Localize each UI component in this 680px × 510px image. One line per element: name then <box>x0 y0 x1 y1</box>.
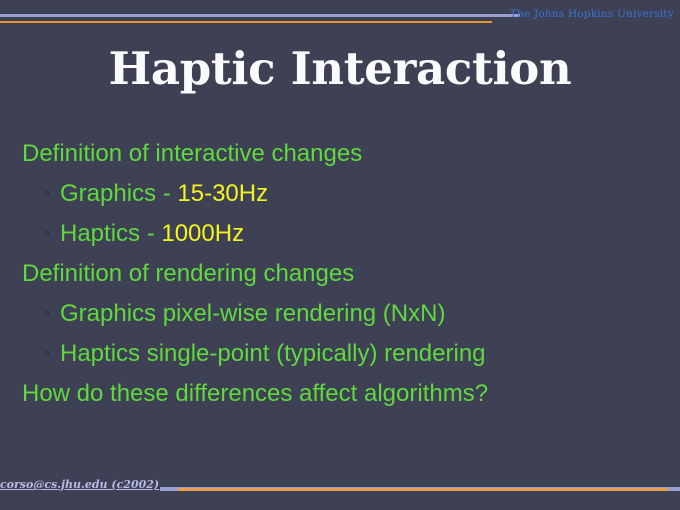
footer-rule-orange <box>178 488 668 491</box>
bullet-highlight: 15-30Hz <box>177 180 268 207</box>
header-rule-orange <box>0 21 492 23</box>
bullet-item-level1: Definition of interactive changes <box>22 134 662 174</box>
hollow-circle-bullet-icon <box>44 231 49 236</box>
bullet-text: Haptics single-point (typically) renderi… <box>60 340 486 367</box>
university-label: The Johns Hopkins University <box>510 8 674 20</box>
bullet-item-level2: Graphics - 15-30Hz <box>22 174 662 214</box>
bullet-text: How do these differences affect algorith… <box>22 380 488 407</box>
hollow-circle-bullet-icon <box>44 311 49 316</box>
hollow-circle-bullet-icon <box>44 191 49 196</box>
presentation-slide: The Johns Hopkins University Haptic Inte… <box>0 0 680 510</box>
bullet-list: Definition of interactive changes Graphi… <box>22 134 662 414</box>
bullet-item-level1: Definition of rendering changes <box>22 254 662 294</box>
footer-email-link[interactable]: jcorso@cs.jhu.edu (c2002) <box>0 478 159 491</box>
hollow-circle-bullet-icon <box>44 351 49 356</box>
bullet-item-level2: Haptics - 1000Hz <box>22 214 662 254</box>
header-rule-lavender <box>0 14 520 17</box>
bullet-text: Graphics - <box>60 180 177 207</box>
bullet-item-level1: How do these differences affect algorith… <box>22 374 662 414</box>
bullet-text: Definition of rendering changes <box>22 260 354 287</box>
bullet-item-level2: Graphics pixel-wise rendering (NxN) <box>22 294 662 334</box>
bullet-item-level2: Haptics single-point (typically) renderi… <box>22 334 662 374</box>
bullet-text: Definition of interactive changes <box>22 140 362 167</box>
bullet-highlight: 1000Hz <box>161 220 244 247</box>
slide-title: Haptic Interaction <box>0 42 680 96</box>
bullet-text: Haptics - <box>60 220 161 247</box>
bullet-text: Graphics pixel-wise rendering (NxN) <box>60 300 445 327</box>
